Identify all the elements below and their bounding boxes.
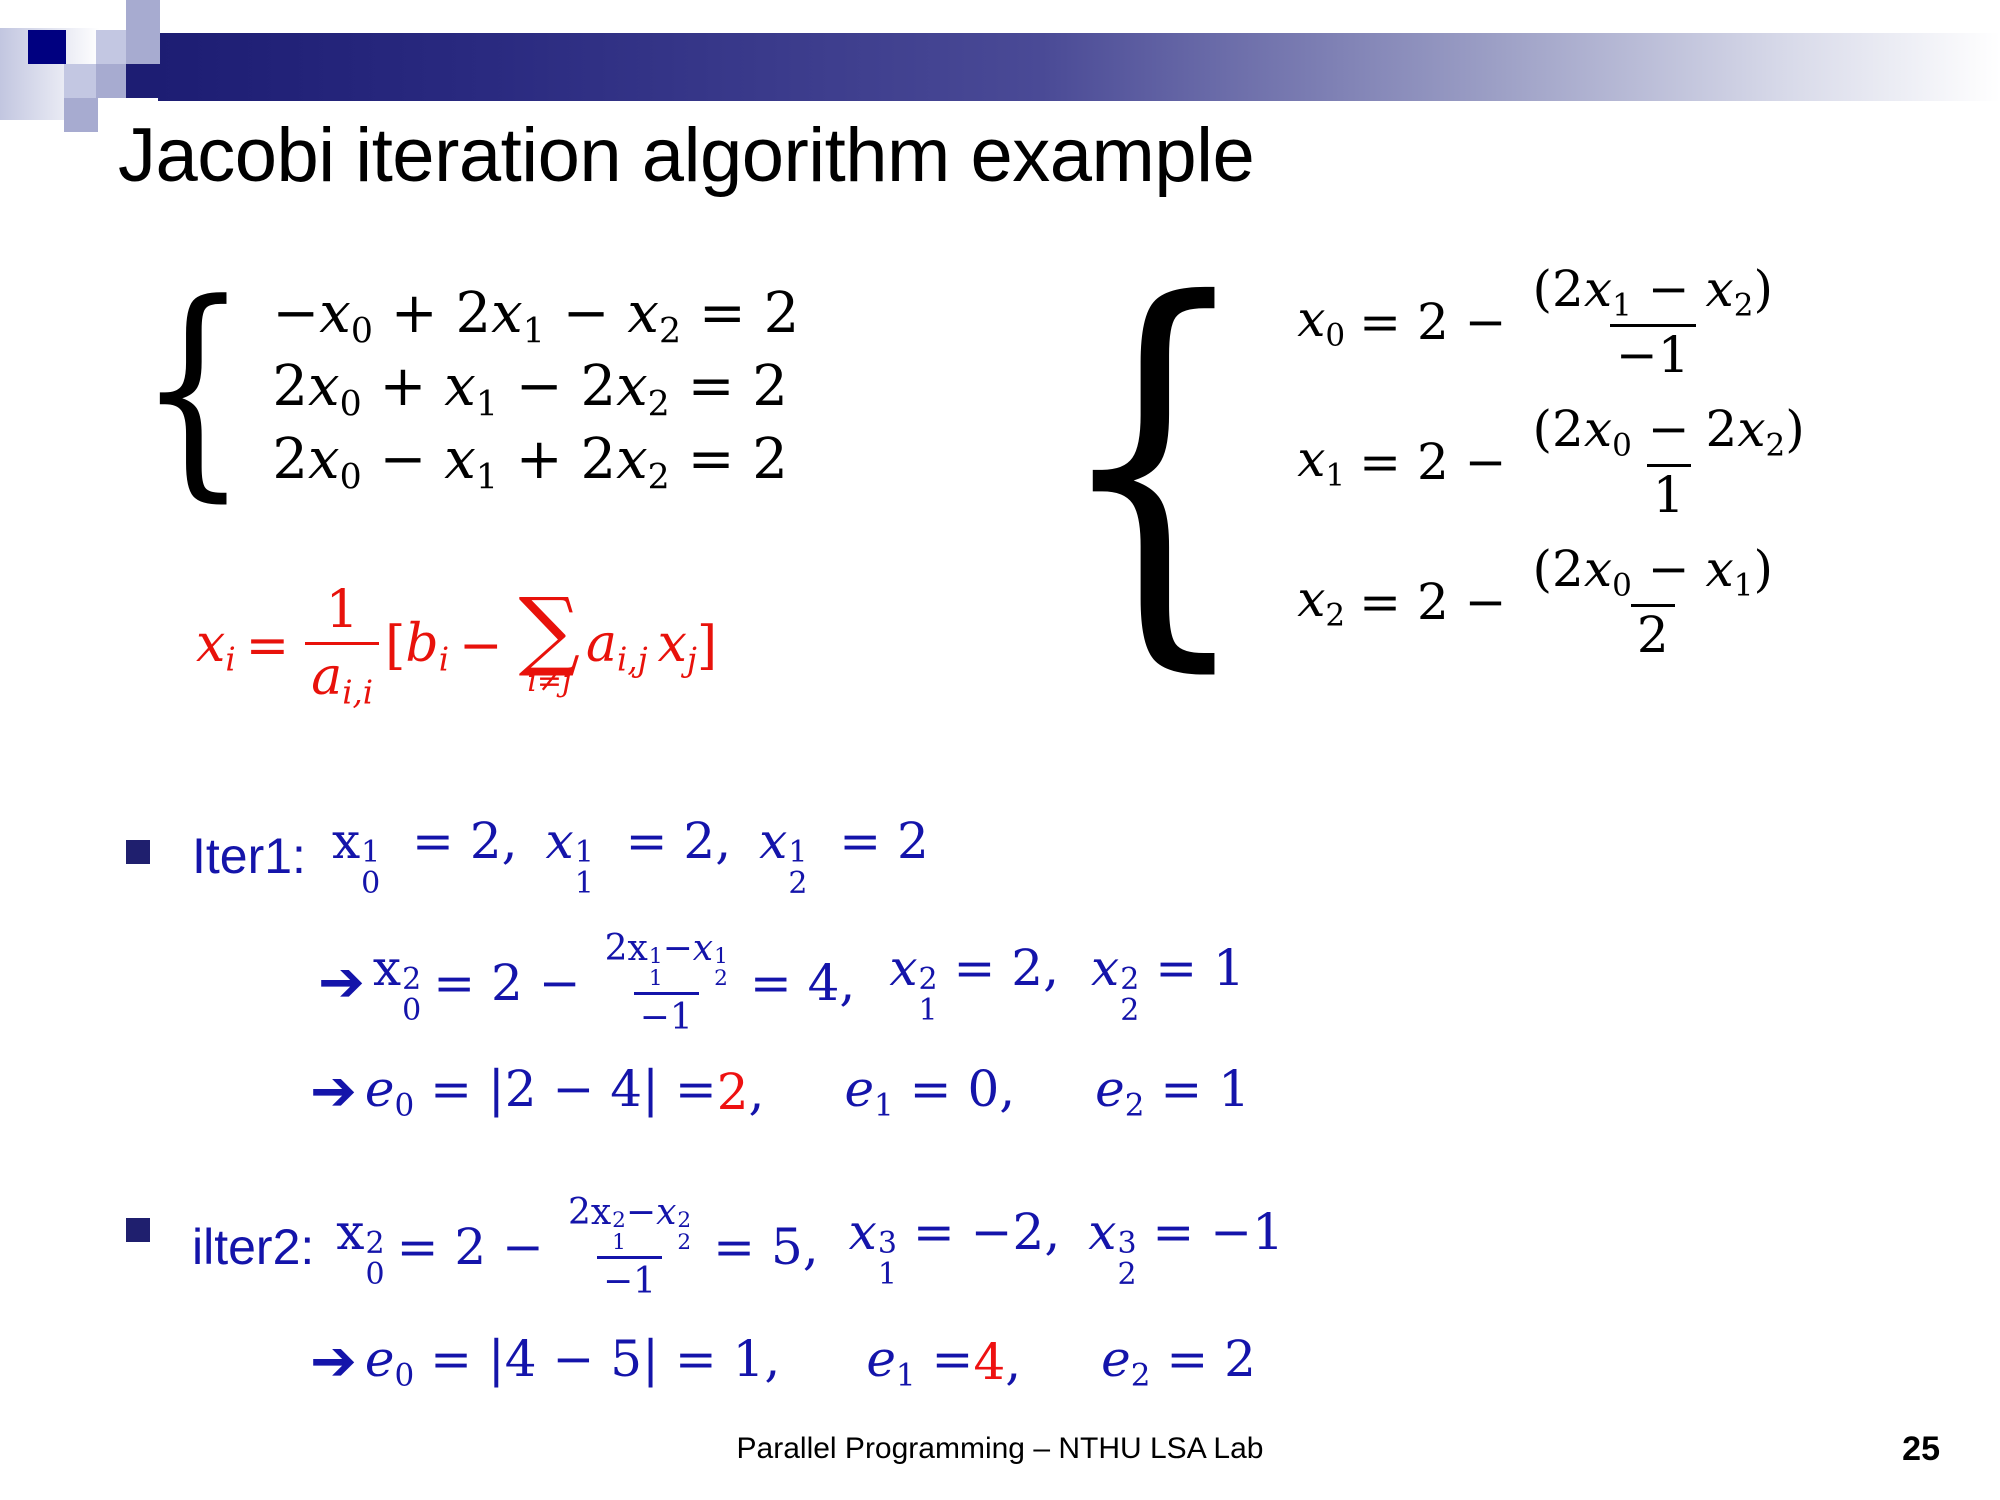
iter1-compute-lhs: x20 xyxy=(373,939,421,1026)
right-row3-numerator: (2x0 − x1) xyxy=(1527,543,1779,604)
equation-system-left: { −x0 + 2x1 − x2 = 2 2x0 + x1 − 2x2 = 2 … xyxy=(120,280,799,498)
iter2-compute-operator: = 2 − xyxy=(397,1218,544,1276)
formula-fraction-denominator: ai,i xyxy=(305,642,379,712)
iter1-compute-x2: x22 = 1 xyxy=(1091,939,1245,1026)
iter2-error-e1: e1 = xyxy=(866,1330,973,1393)
summation-limit: i≠j xyxy=(527,667,571,697)
formula-x-term: xj xyxy=(658,614,697,679)
right-equation-row-1: x0 = 2 − (2x1 − x2) −1 xyxy=(1297,252,1817,392)
right-row1-numerator: (2x1 − x2) xyxy=(1527,263,1779,324)
deco-square-lavender-c xyxy=(64,64,98,98)
formula-fraction: 1 ai,i xyxy=(305,580,379,712)
iter1-compute-denominator: −1 xyxy=(634,992,699,1038)
header-gradient-bar xyxy=(158,33,2000,101)
deco-square-navy-2 xyxy=(126,64,160,98)
formula-minus: − xyxy=(459,616,503,676)
right-row2-numerator: (2x0 − 2x2) xyxy=(1527,403,1811,464)
header-decoration xyxy=(0,0,2000,130)
iter1-error-e2: e2 = 1 xyxy=(1095,1060,1250,1123)
iter2-error-e1-value: 4 xyxy=(973,1333,1005,1391)
iter1-errors-line: ➔ e0 = |2 − 4| = 2 , e1 = 0, e2 = 1 xyxy=(310,1060,1250,1123)
page-number: 25 xyxy=(1902,1430,1940,1469)
formula-lhs: xi xyxy=(196,614,236,679)
right-row1-operator: = 2 − xyxy=(1359,296,1506,349)
iter1-compute-fraction: 2x11−x12 −1 xyxy=(599,928,734,1038)
left-system-rows: −x0 + 2x1 − x2 = 2 2x0 + x1 − 2x2 = 2 2x… xyxy=(272,280,799,498)
summation-symbol: ∑ i≠j xyxy=(519,594,580,697)
right-equation-row-3: x2 = 2 − (2x0 − x1) 2 xyxy=(1297,532,1817,672)
equation-system-right: { x0 = 2 − (2x1 − x2) −1 x1 = 2 − (2x0 −… xyxy=(1020,252,1817,672)
formula-equals: = xyxy=(246,616,290,676)
iter1-value-x1: x11 = 2, xyxy=(546,812,732,899)
formula-open-bracket: [ xyxy=(385,616,405,676)
right-row1-fraction: (2x1 − x2) −1 xyxy=(1527,263,1779,381)
right-system-rows: x0 = 2 − (2x1 − x2) −1 x1 = 2 − (2x0 − 2… xyxy=(1297,252,1817,672)
formula-a-term: ai,j xyxy=(586,614,648,679)
iter2-value-x1: x31 = −2, xyxy=(849,1203,1061,1290)
iter1-label: Iter1: xyxy=(192,827,306,885)
bullet-iter2 xyxy=(126,1218,150,1242)
iter2-compute-lhs: x20 xyxy=(336,1203,384,1290)
iter1-compute-numerator: 2x11−x12 xyxy=(599,928,734,992)
iter2-error-comma: , xyxy=(1005,1333,1021,1391)
right-row2-fraction: (2x0 − 2x2) 1 xyxy=(1527,403,1811,521)
right-row3-operator: = 2 − xyxy=(1359,576,1506,629)
right-brace-icon: { xyxy=(1053,298,1253,626)
right-row1-lhs: x0 xyxy=(1297,293,1345,352)
right-row2-operator: = 2 − xyxy=(1359,436,1506,489)
iter2-compute-denominator: −1 xyxy=(597,1256,662,1302)
right-row3-denominator: 2 xyxy=(1631,604,1675,662)
iter1-compute-line: ➔ x20 = 2 − 2x11−x12 −1 = 4, x21 = 2, x2… xyxy=(318,928,1245,1038)
iter2-label: ilter2: xyxy=(192,1218,314,1276)
deco-square-lavender-b xyxy=(126,0,160,64)
slide-footer: Parallel Programming – NTHU LSA Lab xyxy=(0,1432,2000,1466)
formula-close-bracket: ] xyxy=(697,616,717,676)
deco-square-lavender-d xyxy=(96,64,130,98)
iter2-compute-result: = 5, xyxy=(713,1218,819,1276)
formula-fraction-numerator: 1 xyxy=(320,580,365,642)
iter1-error-e1: e1 = 0, xyxy=(844,1060,1015,1123)
iter2-error-e2: e2 = 2 xyxy=(1101,1330,1256,1393)
iter1-error-e0: e0 = |2 − 4| = xyxy=(365,1060,717,1123)
left-equation-row-1: −x0 + 2x1 − x2 = 2 xyxy=(272,280,799,353)
formula-b-term: bi xyxy=(405,614,449,679)
arrow-right-icon: ➔ xyxy=(318,955,365,1011)
right-row2-denominator: 1 xyxy=(1647,464,1691,522)
bullet-iter1 xyxy=(126,840,150,864)
iter2-line: ilter2: x20 = 2 − 2x21−x22 −1 = 5, x31 =… xyxy=(192,1192,1284,1302)
right-equation-row-2: x1 = 2 − (2x0 − 2x2) 1 xyxy=(1297,392,1817,532)
jacobi-formula-red: xi = 1 ai,i [ bi − ∑ i≠j ai,j xj ] xyxy=(196,580,717,712)
deco-square-navy-1 xyxy=(28,30,66,64)
iter2-error-e0: e0 = |4 − 5| = 1, xyxy=(365,1330,780,1393)
iter1-compute-operator: = 2 − xyxy=(433,954,580,1012)
arrow-right-icon: ➔ xyxy=(310,1064,357,1120)
iter2-compute-numerator: 2x21−x22 xyxy=(562,1192,697,1256)
iter1-compute-x1: x21 = 2, xyxy=(889,939,1059,1026)
iter1-error-e0-value: 2 xyxy=(717,1063,749,1121)
sigma-glyph: ∑ xyxy=(519,594,580,667)
right-row1-denominator: −1 xyxy=(1610,324,1696,382)
left-equation-row-3: 2x0 − x1 + 2x2 = 2 xyxy=(272,426,799,499)
iter1-compute-result: = 4, xyxy=(750,954,856,1012)
iter2-value-x2: x32 = −1 xyxy=(1088,1203,1284,1290)
arrow-right-icon: ➔ xyxy=(310,1334,357,1390)
iter2-compute-fraction: 2x21−x22 −1 xyxy=(562,1192,697,1302)
deco-square-lavender-e xyxy=(64,98,98,132)
deco-square-lavender-a xyxy=(96,30,130,64)
left-brace-icon: { xyxy=(138,299,248,478)
iter1-value-x2: x12 = 2 xyxy=(759,812,929,899)
right-row3-lhs: x2 xyxy=(1297,573,1345,632)
slide-title: Jacobi iteration algorithm example xyxy=(118,112,1818,199)
iter1-error-comma: , xyxy=(749,1063,765,1121)
right-row2-lhs: x1 xyxy=(1297,433,1345,492)
iter1-value-x0: x10 = 2, xyxy=(332,812,518,899)
left-equation-row-2: 2x0 + x1 − 2x2 = 2 xyxy=(272,353,799,426)
right-row3-fraction: (2x0 − x1) 2 xyxy=(1527,543,1779,661)
iter2-errors-line: ➔ e0 = |4 − 5| = 1, e1 = 4 , e2 = 2 xyxy=(310,1330,1256,1393)
iter1-line: Iter1: x10 = 2, x11 = 2, x12 = 2 xyxy=(192,812,929,899)
